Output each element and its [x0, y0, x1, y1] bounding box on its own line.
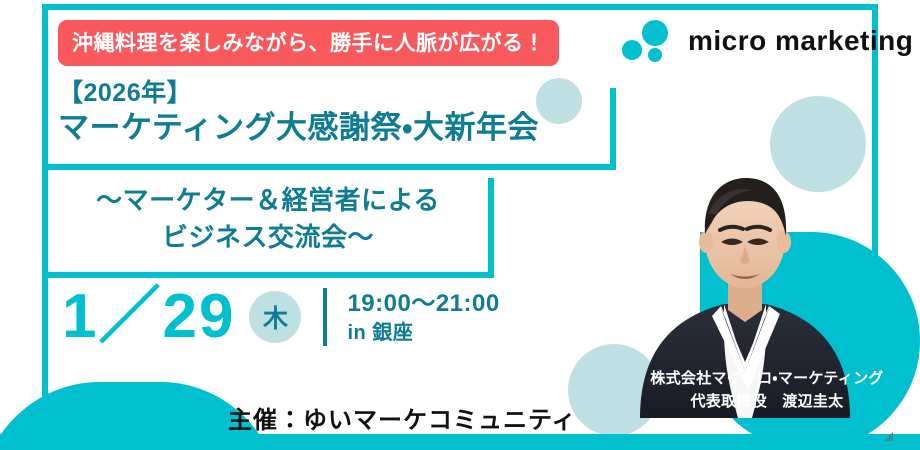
event-place: in 銀座: [347, 320, 499, 346]
subtitle-line-1: 〜マーケター＆経営者による: [48, 182, 488, 219]
logo-dots-icon: [622, 18, 674, 64]
event-time: 19:00〜21:00: [347, 288, 499, 319]
logo-dot-medium-icon: [622, 40, 642, 60]
event-date-row: 1／29 木 19:00〜21:00 in 銀座: [62, 286, 500, 348]
brand-logo: micro marketing: [622, 18, 913, 64]
date-time-separator: [323, 288, 327, 346]
event-banner: micro marketing 沖縄料理を楽しみながら、勝手に人脈が広がる！ 【…: [0, 0, 920, 450]
event-date: 1／29: [62, 286, 235, 348]
catchphrase-badge: 沖縄料理を楽しみながら、勝手に人脈が広がる！: [58, 20, 559, 66]
corner-mark-icon: [884, 432, 893, 441]
logo-wordmark: micro marketing: [688, 25, 913, 57]
headline-line-2: マーケティング大感謝祭・大新年会: [58, 109, 539, 147]
frame-bar-bottom: [0, 434, 920, 450]
event-subtitle: 〜マーケター＆経営者による ビジネス交流会〜: [48, 182, 488, 256]
event-headline: 【2026年】 マーケティング大感謝祭・大新年会: [58, 78, 539, 146]
divider-line-upper: [42, 164, 616, 170]
subtitle-line-2: ビジネス交流会〜: [48, 219, 488, 256]
frame-line-top: [42, 4, 878, 10]
headline-line-1: 【2026年】: [58, 78, 539, 109]
event-time-block: 19:00〜21:00 in 銀座: [347, 288, 499, 345]
divider-line-lower: [42, 272, 494, 278]
speaker-credit: 株式会社マイクロ・マーケティング 代表取締役 渡辺圭太: [636, 368, 898, 413]
divider-cap-lower: [488, 178, 494, 278]
logo-dot-small-icon: [648, 48, 662, 62]
divider-cap-upper: [610, 88, 616, 170]
event-weekday-badge: 木: [249, 291, 301, 343]
logo-dot-large-icon: [642, 20, 668, 46]
speaker-company: 株式会社マイクロ・マーケティング: [636, 368, 898, 391]
organizer-text: 主催：ゆいマーケコミュニティ: [228, 400, 577, 435]
decor-circle-small: [536, 78, 582, 124]
speaker-title-name: 代表取締役 渡辺圭太: [636, 391, 898, 414]
